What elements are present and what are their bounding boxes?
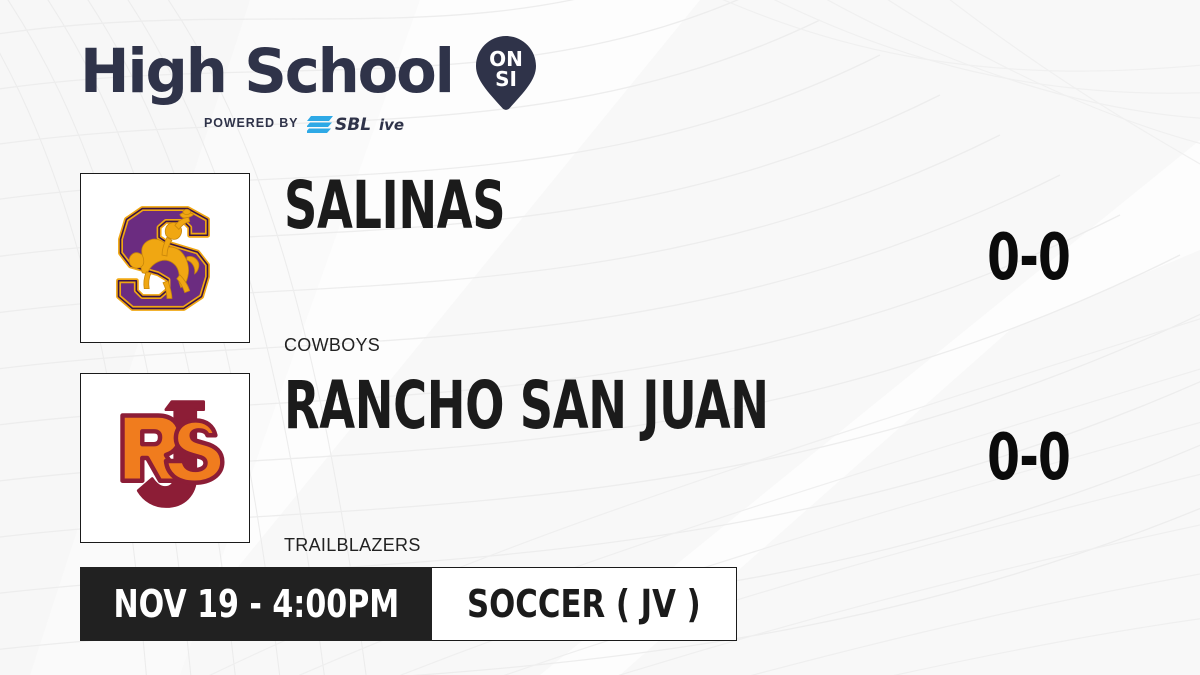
sblive-text-ive: ive <box>379 116 404 133</box>
brand-wordmark: High School <box>80 41 453 103</box>
team-score-home: 0-0 <box>60 223 1200 293</box>
game-sport-block: SOCCER ( JV ) <box>432 567 737 641</box>
game-datetime-block: NOV 19 - 4:00PM <box>80 567 432 641</box>
sblive-text-sbl: SBL <box>335 115 371 133</box>
team-score-away-value: 0-0 <box>987 423 1070 493</box>
game-sport-label: SOCCER ( JV ) <box>467 582 701 626</box>
team-score-home-value: 0-0 <box>987 223 1070 293</box>
powered-by-label: POWERED BY <box>204 116 298 130</box>
brand-header: High School ON SI POWERED BY <box>80 36 510 136</box>
sblive-logo: SBL ive <box>307 113 425 133</box>
game-datetime-label: NOV 19 - 4:00PM <box>113 582 399 626</box>
pin-label-si: SI <box>495 67 517 91</box>
team-mascot-home: COWBOYS <box>284 335 380 355</box>
on-si-location-pin-icon: ON SI <box>476 36 536 110</box>
scoreboard-graphic: High School ON SI POWERED BY <box>0 0 1200 675</box>
game-info-bar: NOV 19 - 4:00PM SOCCER ( JV ) <box>80 567 737 641</box>
team-mascot-away: TRAILBLAZERS <box>284 535 421 555</box>
team-score-away: 0-0 <box>60 423 1200 493</box>
brand-logo-row: High School ON SI <box>80 36 510 108</box>
powered-by-row: POWERED BY SBL ive <box>80 112 510 134</box>
